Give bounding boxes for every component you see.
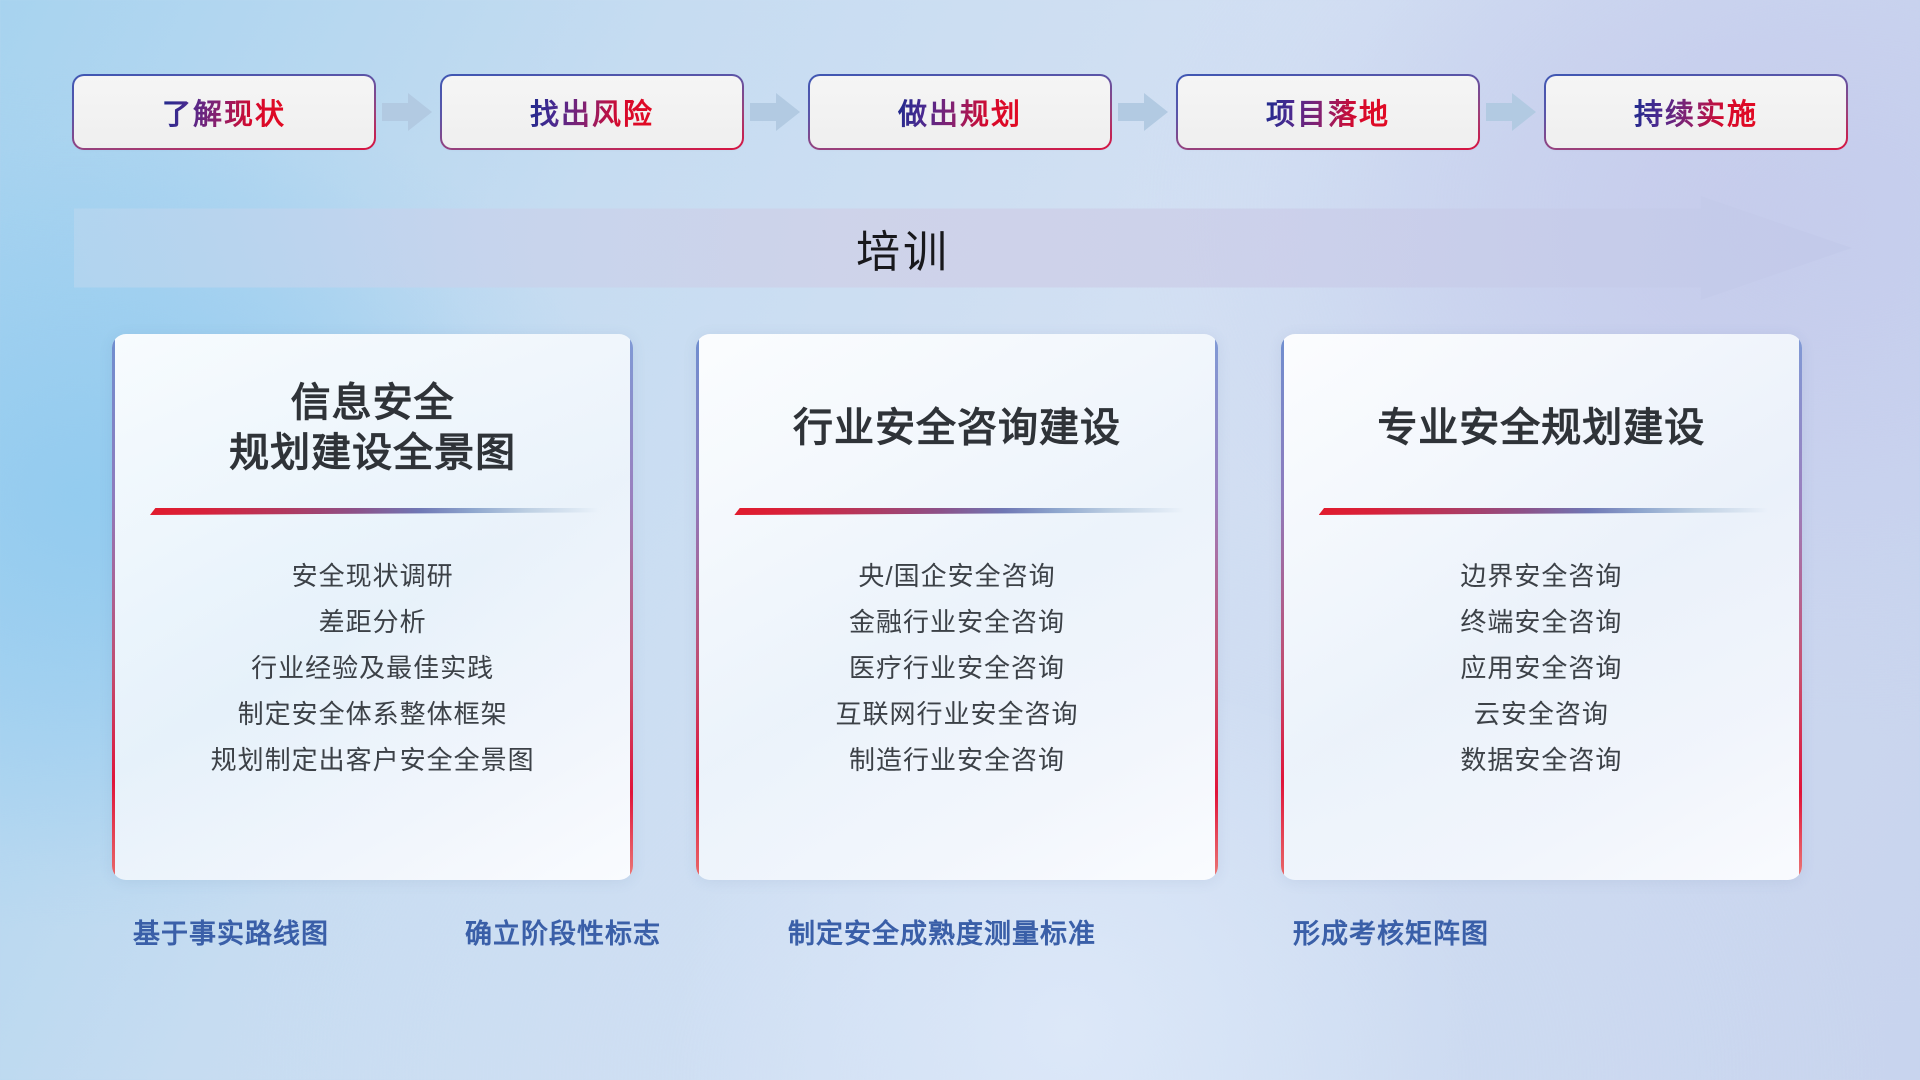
banner-title: 培训 (74, 196, 1852, 300)
list-item: 央/国企安全咨询 (722, 553, 1191, 599)
card-divider (1319, 508, 1768, 515)
step-box-3[interactable]: 项目落地 (1178, 76, 1478, 148)
caption-maturity: 制定安全成熟度测量标准 (788, 912, 1096, 951)
step-arrow-icon-1 (742, 90, 810, 134)
card-professional-security-planning[interactable]: 专业安全规划建设 边界安全咨询 终端安全咨询 应用安全咨询 云安全咨询 数据安全… (1281, 334, 1802, 880)
step-label: 做出规划 (898, 91, 1022, 133)
card-industry-security-consulting[interactable]: 行业安全咨询建设 央/国企安全咨询 金融行业安全咨询 医疗行业安全咨询 互联网行… (696, 334, 1217, 880)
list-item: 医疗行业安全咨询 (722, 645, 1191, 691)
step-label: 找出风险 (530, 91, 654, 133)
step-arrow-icon-3 (1478, 90, 1546, 134)
step-arrow-icon-0 (374, 90, 442, 134)
step-box-1[interactable]: 找出风险 (442, 76, 742, 148)
list-item: 行业经验及最佳实践 (138, 645, 607, 691)
step-arrow-icon-2 (1110, 90, 1178, 134)
step-label: 持续实施 (1634, 91, 1758, 133)
card-information-security-panorama[interactable]: 信息安全 规划建设全景图 安全现状调研 差距分析 行业经验及最佳实践 制定安全体… (112, 334, 633, 880)
card-title: 行业安全咨询建设 (722, 376, 1191, 480)
list-item: 终端安全咨询 (1307, 599, 1776, 645)
caption-row: 基于事实路线图 确立阶段性标志 制定安全成熟度测量标准 形成考核矩阵图 (0, 912, 1920, 970)
caption-matrix: 形成考核矩阵图 (1293, 912, 1489, 951)
card-item-list: 央/国企安全咨询 金融行业安全咨询 医疗行业安全咨询 互联网行业安全咨询 制造行… (722, 553, 1191, 783)
list-item: 应用安全咨询 (1307, 645, 1776, 691)
list-item: 制定安全体系整体框架 (138, 691, 607, 737)
step-box-0[interactable]: 了解现状 (74, 76, 374, 148)
caption-roadmap: 基于事实路线图 (133, 912, 329, 951)
step-box-2[interactable]: 做出规划 (810, 76, 1110, 148)
step-label: 项目落地 (1266, 91, 1390, 133)
card-item-list: 边界安全咨询 终端安全咨询 应用安全咨询 云安全咨询 数据安全咨询 (1307, 553, 1776, 783)
list-item: 云安全咨询 (1307, 691, 1776, 737)
list-item: 规划制定出客户安全全景图 (138, 737, 607, 783)
training-banner: 培训 (74, 196, 1852, 300)
card-title: 信息安全 规划建设全景图 (138, 376, 607, 480)
card-item-list: 安全现状调研 差距分析 行业经验及最佳实践 制定安全体系整体框架 规划制定出客户… (138, 553, 607, 783)
list-item: 互联网行业安全咨询 (722, 691, 1191, 737)
caption-milestone: 确立阶段性标志 (465, 912, 661, 951)
list-item: 制造行业安全咨询 (722, 737, 1191, 783)
process-step-row: 了解现状 找出风险 做出规划 项目落地 持续实施 (74, 76, 1846, 148)
card-divider (150, 508, 599, 515)
list-item: 安全现状调研 (138, 553, 607, 599)
card-title: 专业安全规划建设 (1307, 376, 1776, 480)
list-item: 边界安全咨询 (1307, 553, 1776, 599)
card-group: 信息安全 规划建设全景图 安全现状调研 差距分析 行业经验及最佳实践 制定安全体… (112, 334, 1802, 880)
list-item: 数据安全咨询 (1307, 737, 1776, 783)
list-item: 差距分析 (138, 599, 607, 645)
card-divider (734, 508, 1183, 515)
list-item: 金融行业安全咨询 (722, 599, 1191, 645)
step-box-4[interactable]: 持续实施 (1546, 76, 1846, 148)
step-label: 了解现状 (162, 91, 286, 133)
